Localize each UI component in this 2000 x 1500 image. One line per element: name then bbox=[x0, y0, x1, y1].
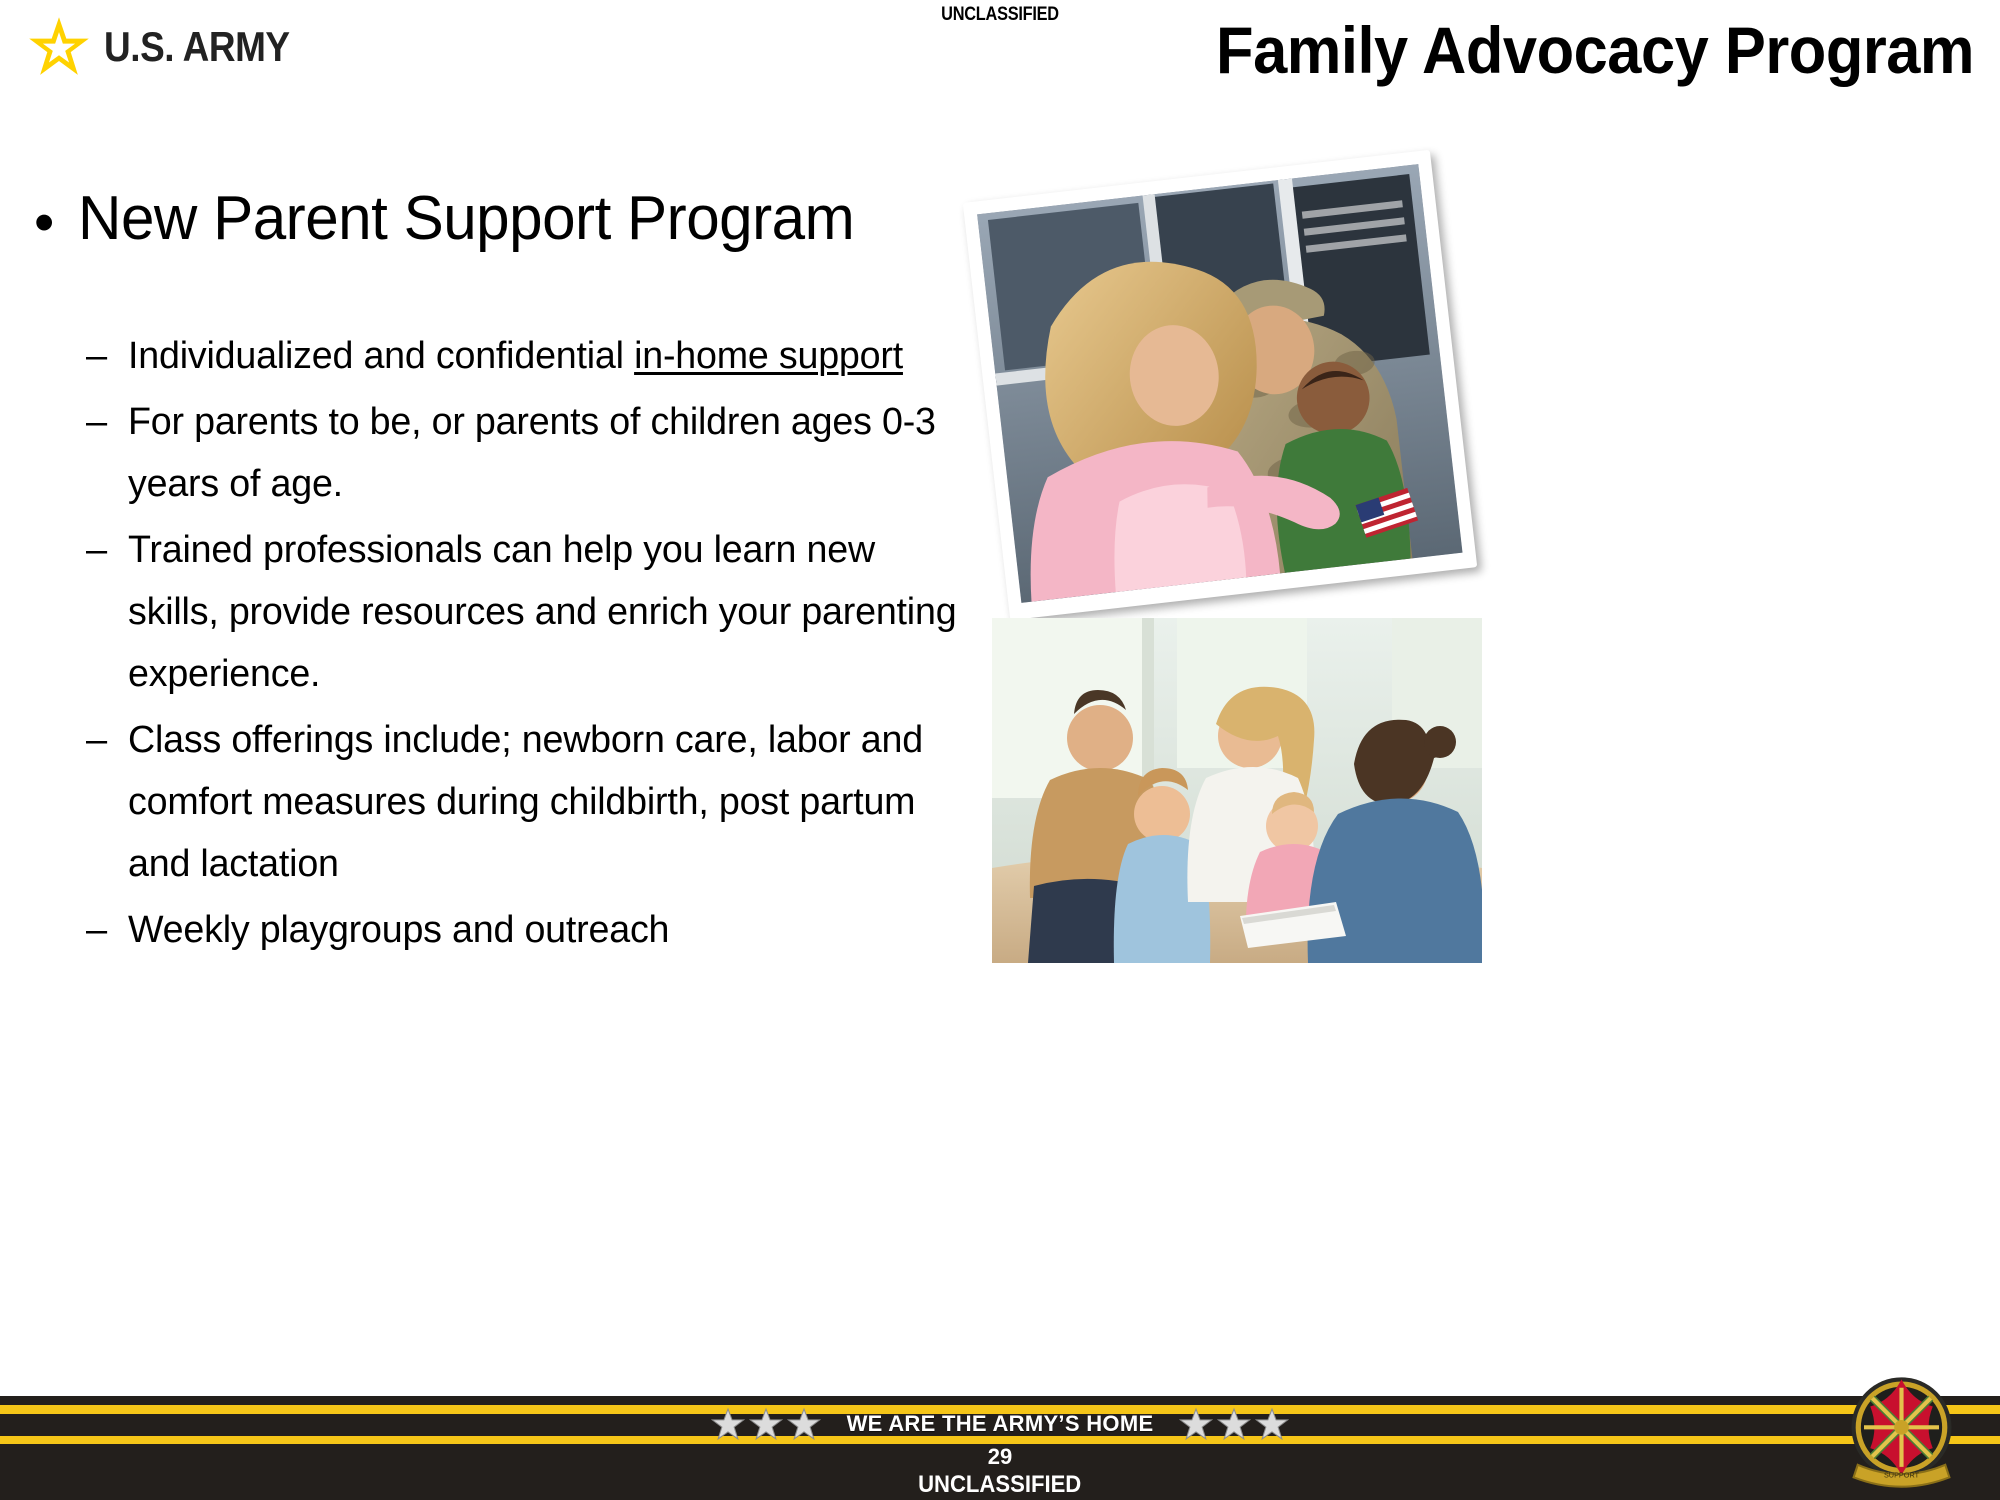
footer-motto-row: WE ARE THE ARMY’S HOME bbox=[711, 1404, 1290, 1444]
dash-bullet-icon: – bbox=[86, 325, 108, 387]
dash-bullet-icon: – bbox=[86, 391, 108, 453]
army-logo: U.S. ARMY bbox=[28, 16, 315, 78]
main-bullet-label: New Parent Support Program bbox=[78, 186, 854, 251]
dash-bullet-icon: – bbox=[86, 899, 108, 961]
three-stars-icon-right bbox=[1179, 1407, 1289, 1441]
list-item: – Weekly playgroups and outreach bbox=[86, 899, 966, 961]
list-item: – For parents to be, or parents of child… bbox=[86, 391, 966, 515]
dash-bullet-icon: – bbox=[86, 519, 108, 581]
three-stars-icon-left bbox=[711, 1407, 821, 1441]
dash-bullet-icon: – bbox=[86, 709, 108, 771]
family-reunion-photo bbox=[963, 150, 1478, 621]
sub-bullet-list: – Individualized and confidential in-hom… bbox=[86, 325, 966, 965]
list-item-text: Weekly playgroups and outreach bbox=[128, 899, 669, 961]
slide-body: • New Parent Support Program – Individua… bbox=[0, 130, 2000, 1360]
footer-content: WE ARE THE ARMY’S HOME 29 UNCLASSIFIED bbox=[0, 1400, 2000, 1500]
footer-motto: WE ARE THE ARMY’S HOME bbox=[847, 1411, 1154, 1437]
page-title: Family Advocacy Program bbox=[1216, 16, 1974, 85]
family-counseling-photo bbox=[992, 618, 1482, 963]
list-item-text: Class offerings include; newborn care, l… bbox=[128, 709, 958, 895]
page-number: 29 bbox=[988, 1444, 1012, 1470]
list-item: – Class offerings include; newborn care,… bbox=[86, 709, 966, 895]
imcom-crest-icon: SUPPORT bbox=[1839, 1369, 1964, 1494]
army-star-icon bbox=[28, 16, 90, 78]
list-item: – Trained professionals can help you lea… bbox=[86, 519, 966, 705]
main-bullet: • New Parent Support Program bbox=[34, 186, 1034, 252]
list-item-text: Individualized and confidential in-home … bbox=[128, 325, 903, 387]
list-item-text: Trained professionals can help you learn… bbox=[128, 519, 958, 705]
bullet-dot-icon: • bbox=[34, 194, 54, 252]
slide-header: UNCLASSIFIED U.S. ARMY Family Advocacy P… bbox=[0, 0, 2000, 130]
classification-banner-bottom: UNCLASSIFIED bbox=[918, 1470, 1081, 1500]
slide-footer: WE ARE THE ARMY’S HOME 29 UNCLASSIFIED bbox=[0, 1380, 2000, 1500]
list-item-text-underlined: in-home support bbox=[634, 335, 903, 377]
list-item-text: For parents to be, or parents of childre… bbox=[128, 391, 958, 515]
list-item-text-lead: Individualized and confidential bbox=[128, 335, 634, 377]
list-item: – Individualized and confidential in-hom… bbox=[86, 325, 966, 387]
army-wordmark: U.S. ARMY bbox=[104, 23, 290, 71]
svg-text:SUPPORT: SUPPORT bbox=[1884, 1470, 1920, 1479]
